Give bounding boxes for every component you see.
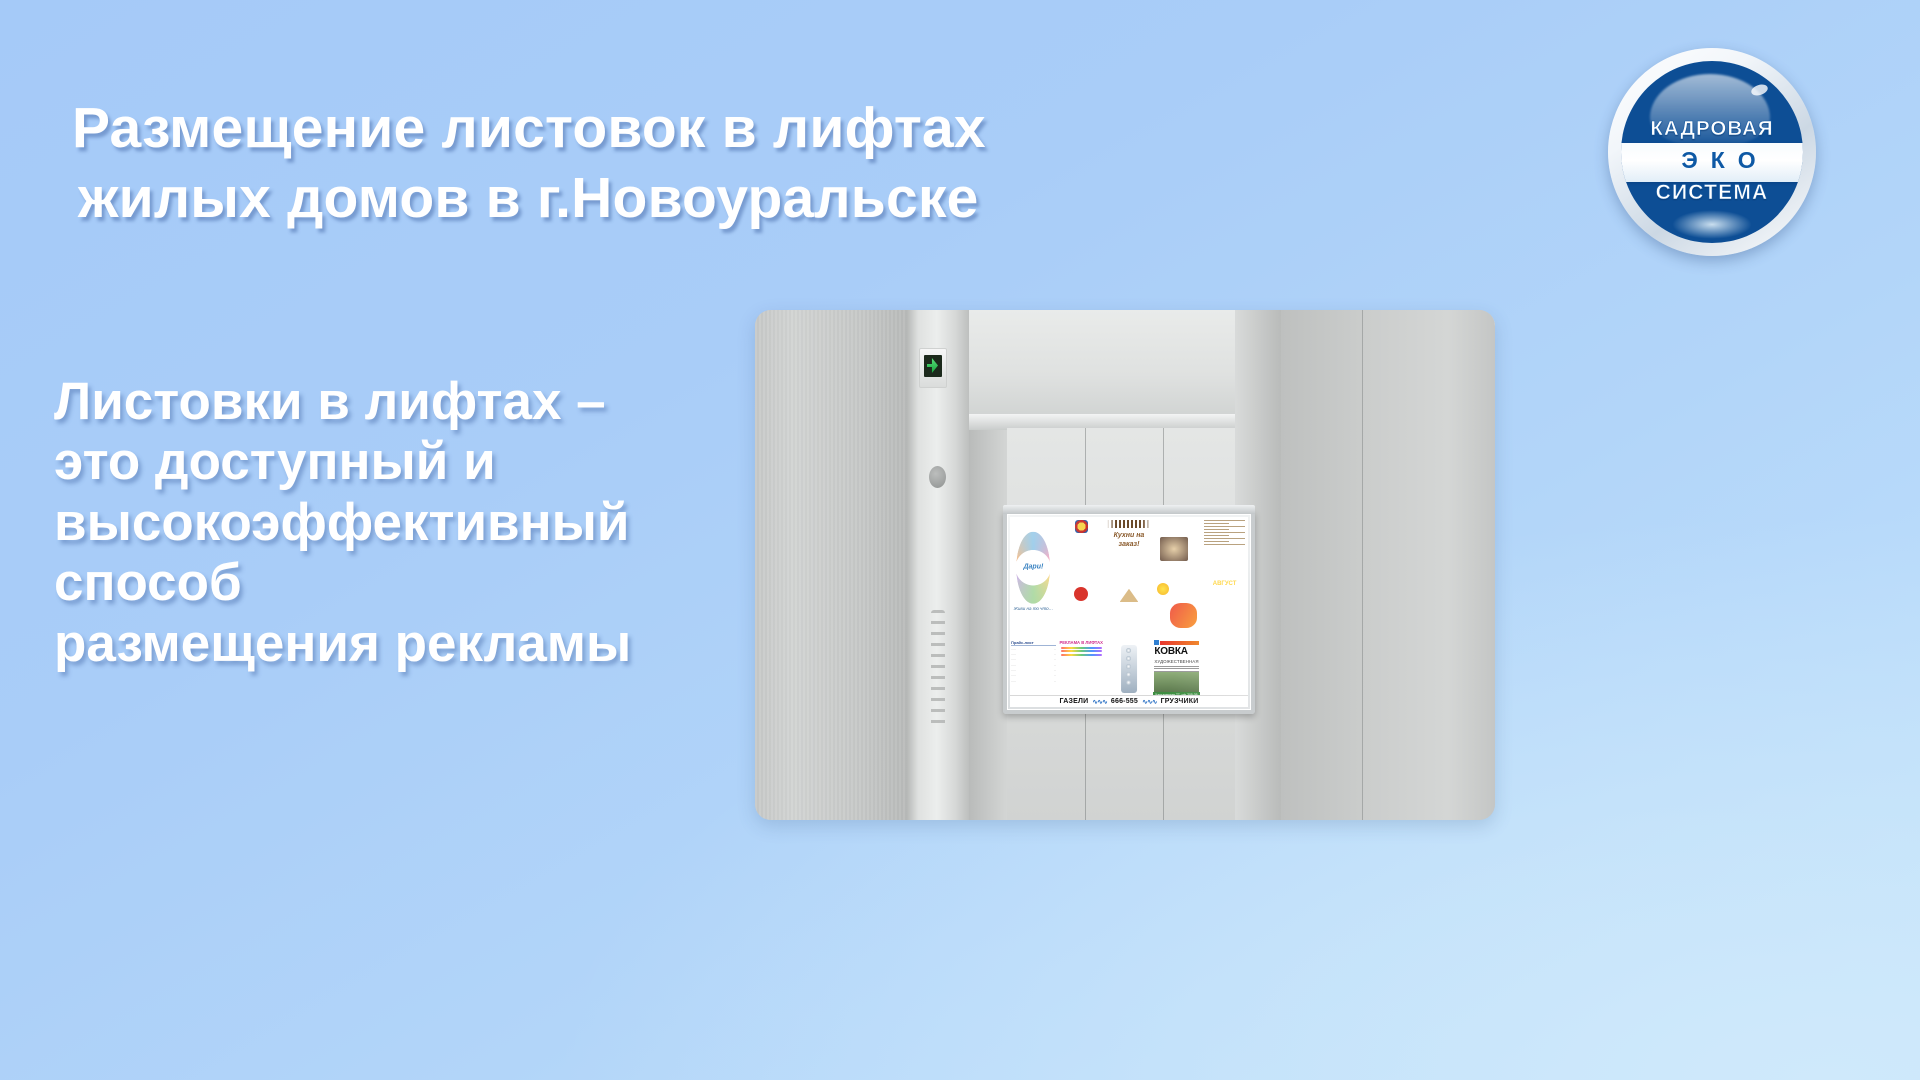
flyer-kovka-header	[1154, 640, 1199, 645]
flyer-calendar[interactable]: АВГУСТ	[1201, 578, 1248, 638]
flyer-calendar-title: АВГУСТ	[1202, 581, 1247, 589]
logo-sphere: КАДРОВАЯ ЭКО СИСТЕМА	[1621, 61, 1803, 243]
page-title-line-1: Размещение листовок в лифтах	[72, 94, 1252, 164]
subtitle-block: Листовки в лифтах – это доступный и высо…	[54, 372, 774, 674]
subtitle-line-3: высокоэффективный	[54, 493, 774, 553]
flyer-lines[interactable]	[1201, 517, 1248, 577]
flyer-beach-title: Загородный Дом	[1202, 642, 1247, 648]
logo-text-line-3: СИСТЕМА	[1621, 181, 1803, 205]
banner-wave-icon-right: ∿∿∿	[1142, 698, 1157, 706]
flyer-kids[interactable]	[1153, 578, 1200, 638]
logo-specular-dot-icon	[1750, 82, 1769, 97]
banner-wave-icon-left: ∿∿∿	[1092, 698, 1107, 706]
slide-canvas: Размещение листовок в лифтах жилых домов…	[0, 0, 1920, 1080]
ornament-icon	[1107, 520, 1152, 528]
flyer-kovka[interactable]: КОВКА ХУДОЖЕСТВЕННАЯ Харьковская 77, оф.…	[1153, 639, 1200, 699]
flyer-cream[interactable]: Кухни на заказ!	[1106, 517, 1153, 577]
banner-right-label: ГРУЗЧИКИ	[1161, 698, 1199, 705]
flyer-rainbow[interactable]: РЕКЛАМА В ЛИФТАХ	[1058, 639, 1105, 699]
banner-phone: 666-555	[1111, 698, 1138, 705]
kovka-banner-icon	[1160, 641, 1199, 645]
ventilation-grille-icon	[931, 610, 945, 730]
board-top-frame	[1003, 505, 1255, 514]
flyer-red[interactable]: 30 000	[1058, 578, 1105, 638]
elevator-right-door-panel	[1281, 310, 1495, 820]
flyer-beach[interactable]: Загородный Дом	[1201, 639, 1248, 699]
right-panel-seam	[1362, 310, 1363, 820]
advertising-poster-board[interactable]: Дари! Живи на то что… Кухни на заказ!	[1003, 510, 1255, 714]
elevator-button-panel-icon	[1121, 645, 1137, 693]
flyer-collage-title: Дари!	[1023, 563, 1043, 572]
flyer-red-caption: 30 000	[1059, 623, 1105, 629]
page-title-line-2: жилых домов в г.Новоуральске	[72, 164, 1252, 234]
calendar-grid-icon	[1202, 590, 1247, 604]
logo-bottom-glow	[1672, 210, 1752, 239]
flyer-panel[interactable]	[1106, 639, 1153, 699]
floor-indicator-display	[919, 348, 947, 388]
subtitle-line-1: Листовки в лифтах –	[54, 372, 774, 432]
kids-illustration-icon	[1170, 603, 1197, 628]
flyer-collage[interactable]: Дари! Живи на то что…	[1010, 517, 1057, 638]
person-photo-icon	[1074, 587, 1088, 601]
flyer-kovka-subtitle: ХУДОЖЕСТВЕННАЯ	[1154, 659, 1199, 665]
flyer-price-title: Прайс-лист	[1011, 640, 1056, 646]
elevator-left-door-panel	[755, 310, 907, 820]
kovka-product-photo	[1154, 672, 1199, 692]
banner-left-label: ГАЗЕЛИ	[1060, 698, 1089, 705]
speaker-icon	[929, 466, 946, 488]
board-bottom-banner[interactable]: ГАЗЕЛИ ∿∿∿ 666-555 ∿∿∿ ГРУЗЧИКИ	[1010, 695, 1248, 707]
flyer-grid: Дари! Живи на то что… Кухни на заказ!	[1010, 517, 1248, 707]
sun-icon	[1157, 583, 1169, 595]
subtitle-line-5: размещения рекламы	[54, 614, 774, 674]
subtitle-line-4: способ	[54, 553, 774, 613]
flyer-kovka-title: КОВКА	[1154, 646, 1199, 659]
elevator-interior-photo: Дари! Живи на то что… Кухни на заказ!	[755, 310, 1495, 820]
flyer-price-list[interactable]: Прайс-лист ······· ······· ······· ·····…	[1010, 639, 1057, 699]
elevator-door-jamb	[907, 310, 969, 820]
logo-text-line-2: ЭКО	[1621, 147, 1803, 174]
flyer-collage-caption: Живи на то что…	[1014, 606, 1053, 612]
flyer-rainbow-title: РЕКЛАМА В ЛИФТАХ	[1059, 640, 1104, 645]
logo-text-line-1: КАДРОВАЯ	[1621, 117, 1803, 141]
subtitle-line-2: это доступный и	[54, 432, 774, 492]
flyer-cream-title: Кухни на заказ!	[1107, 532, 1152, 550]
flyer-brown[interactable]	[1106, 578, 1153, 638]
kovka-logo-icon	[1154, 640, 1159, 645]
flyer-interior[interactable]	[1153, 517, 1200, 577]
page-title: Размещение листовок в лифтах жилых домов…	[72, 94, 1252, 233]
crest-icon	[1075, 520, 1088, 533]
company-logo[interactable]: КАДРОВАЯ ЭКО СИСТЕМА	[1608, 48, 1816, 256]
flyer-yellow[interactable]	[1058, 517, 1105, 577]
